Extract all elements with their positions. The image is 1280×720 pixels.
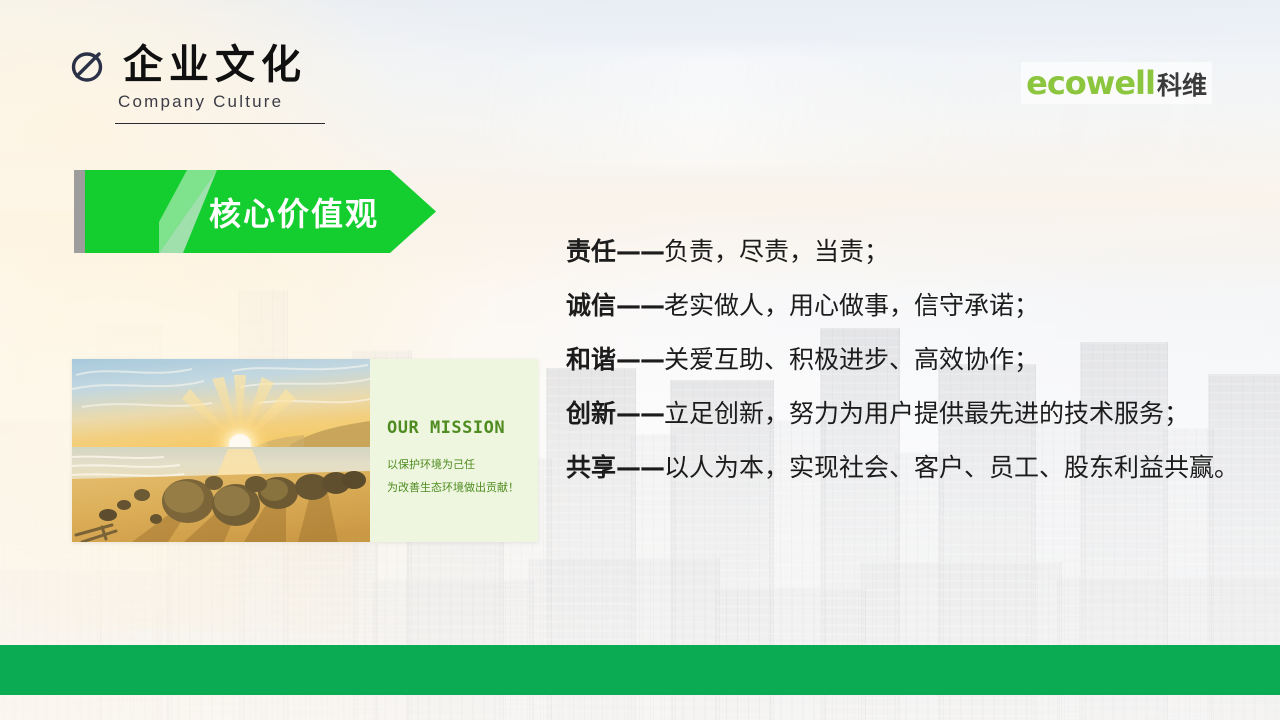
banner-left-edge xyxy=(74,170,85,253)
banner-label: 核心价值观 xyxy=(209,170,379,253)
mission-line-1: 以保护环境为己任 xyxy=(387,456,475,472)
value-key-4: 创新 xyxy=(566,399,616,428)
value-text-1: 负责，尽责，当责； xyxy=(664,237,889,266)
slide-canvas: 企业文化 Company Culture ecowell 科维 核心价值观 xyxy=(0,0,1280,720)
value-item-1: 责任——负责，尽责，当责； xyxy=(566,238,1266,266)
page-header: 企业文化 Company Culture xyxy=(70,45,325,124)
logo-brand-cn: 科维 xyxy=(1157,66,1207,102)
value-text-5: 以人为本，实现社会、客户、员工、股东利益共赢。 xyxy=(664,453,1239,482)
value-text-4: 立足创新，努力为用户提供最先进的技术服务； xyxy=(664,399,1189,428)
value-text-2: 老实做人，用心做事，信守承诺； xyxy=(664,291,1039,320)
mission-text-panel: OUR MISSION 以保护环境为己任 为改善生态环境做出贡献！ xyxy=(370,359,538,542)
mission-line-2: 为改善生态环境做出贡献！ xyxy=(387,479,519,495)
value-key-3: 和谐 xyxy=(566,345,616,374)
value-key-5: 共享 xyxy=(566,453,616,482)
mission-title: OUR MISSION xyxy=(387,418,505,438)
value-key-2: 诚信 xyxy=(566,291,616,320)
page-title: 企业文化 xyxy=(123,45,307,85)
footer-bar xyxy=(0,645,1280,695)
value-dash-2: —— xyxy=(616,291,664,320)
value-dash-5: —— xyxy=(616,453,664,482)
value-dash-3: —— xyxy=(616,345,664,374)
value-dash-1: —— xyxy=(616,237,664,266)
company-logo: ecowell 科维 xyxy=(1021,62,1212,104)
value-dash-4: —— xyxy=(616,399,664,428)
page-subtitle: Company Culture xyxy=(118,92,325,112)
slash-circle-icon xyxy=(70,45,106,85)
mission-photo xyxy=(72,359,370,542)
value-item-5: 共享——以人为本，实现社会、客户、员工、股东利益共赢。 xyxy=(566,454,1266,482)
value-key-1: 责任 xyxy=(566,237,616,266)
value-item-3: 和谐——关爱互助、积极进步、高效协作； xyxy=(566,346,1266,374)
value-item-2: 诚信——老实做人，用心做事，信守承诺； xyxy=(566,292,1266,320)
core-values-banner: 核心价值观 xyxy=(74,170,436,253)
title-divider xyxy=(115,123,325,124)
logo-brand-latin: ecowell xyxy=(1026,64,1155,102)
mission-card: OUR MISSION 以保护环境为己任 为改善生态环境做出贡献！ xyxy=(72,359,538,542)
value-item-4: 创新——立足创新，努力为用户提供最先进的技术服务； xyxy=(566,400,1266,428)
core-values-list: 责任——负责，尽责，当责； 诚信——老实做人，用心做事，信守承诺； 和谐——关爱… xyxy=(566,238,1266,508)
value-text-3: 关爱互助、积极进步、高效协作； xyxy=(664,345,1039,374)
